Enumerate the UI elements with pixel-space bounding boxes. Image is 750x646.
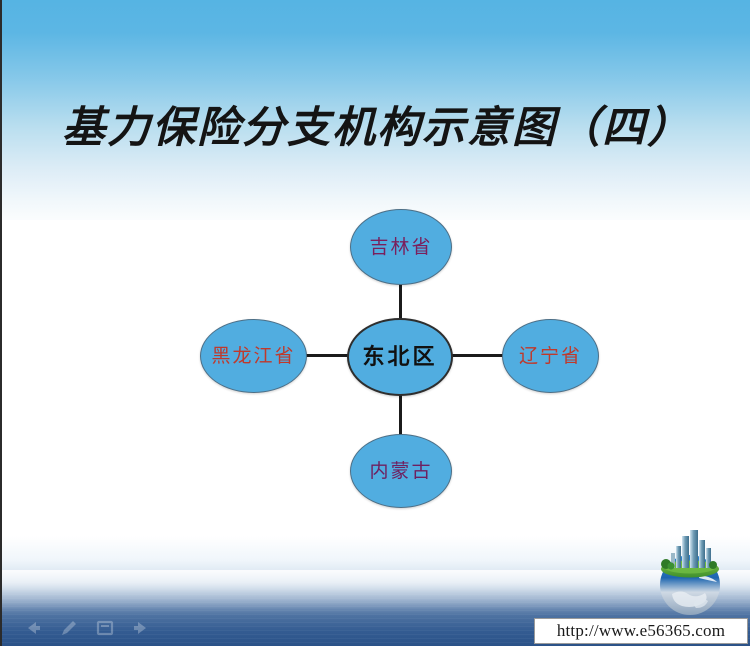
slideshow-controls <box>22 618 152 638</box>
diagram-node-heilongjiang[interactable]: 黑龙江省 <box>200 319 307 393</box>
diagram-node-center-northeast-region[interactable]: 东北区 <box>347 318 453 396</box>
node-label-heilongjiang: 黑龙江省 <box>211 347 295 366</box>
connector-center-to-left <box>302 354 352 357</box>
node-label-liaoning: 辽宁省 <box>519 347 582 366</box>
slide-menu-button[interactable] <box>94 618 116 638</box>
next-slide-button[interactable] <box>130 618 152 638</box>
pen-tool-button[interactable] <box>58 618 80 638</box>
node-label-jilin: 吉林省 <box>369 238 432 257</box>
presentation-slide: 基力保险分支机构示意图（四） 吉林省 黑龙江省 东北区 辽宁省 内蒙古 <box>0 0 750 646</box>
diagram-node-inner-mongolia[interactable]: 内蒙古 <box>350 434 452 508</box>
diagram-node-jilin[interactable]: 吉林省 <box>350 209 452 285</box>
node-label-northeast-region: 东北区 <box>362 346 437 368</box>
website-url-box[interactable]: http://www.e56365.com <box>534 618 748 644</box>
connector-center-to-right <box>450 354 504 357</box>
previous-slide-button[interactable] <box>22 618 44 638</box>
website-url-text: http://www.e56365.com <box>557 621 725 641</box>
node-label-inner-mongolia: 内蒙古 <box>369 462 432 481</box>
globe-city-logo <box>638 522 742 616</box>
diagram-node-liaoning[interactable]: 辽宁省 <box>502 319 599 393</box>
